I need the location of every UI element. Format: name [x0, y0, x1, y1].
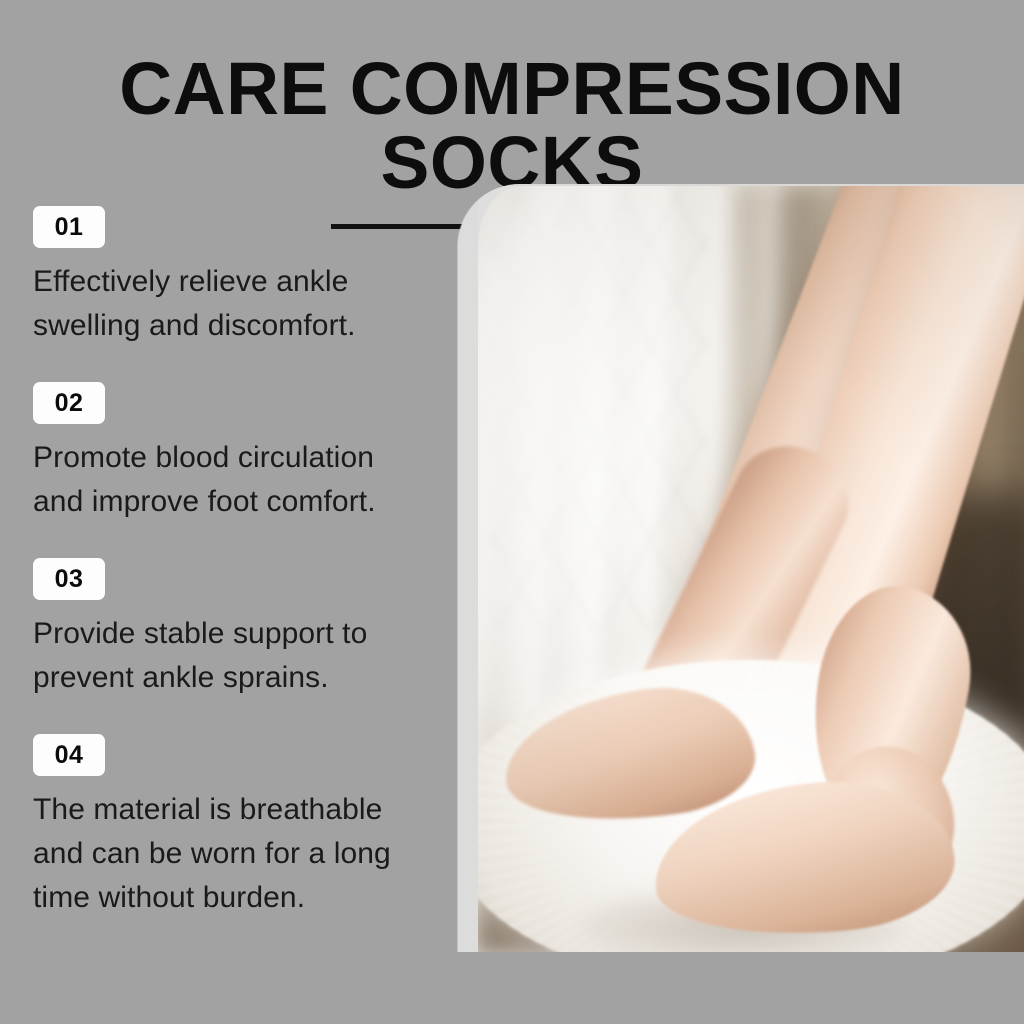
- product-photo: [478, 186, 1024, 952]
- feature-number-badge-04: 04: [33, 734, 105, 776]
- feature-text-01: Effectively relieve ankle swelling and d…: [33, 260, 453, 348]
- feature-item-04: 04 The material is breathable and can be…: [33, 734, 453, 920]
- feature-text-02: Promote blood circulation and improve fo…: [33, 436, 453, 524]
- feature-item-01: 01 Effectively relieve ankle swelling an…: [33, 206, 453, 348]
- feature-number-badge-02: 02: [33, 382, 105, 424]
- feature-item-03: 03 Provide stable support to prevent ank…: [33, 558, 453, 700]
- feature-text-03: Provide stable support to prevent ankle …: [33, 612, 453, 700]
- feature-text-04: The material is breathable and can be wo…: [33, 788, 453, 920]
- feature-item-02: 02 Promote blood circulation and improve…: [33, 382, 453, 524]
- product-photo-panel: [458, 184, 1024, 952]
- feature-number-badge-03: 03: [33, 558, 105, 600]
- page-title: CARE COMPRESSION SOCKS: [5, 52, 1019, 200]
- feature-list: 01 Effectively relieve ankle swelling an…: [33, 206, 453, 920]
- feature-number-badge-01: 01: [33, 206, 105, 248]
- product-infographic: CARE COMPRESSION SOCKS 01 Effectively re…: [0, 0, 1024, 1024]
